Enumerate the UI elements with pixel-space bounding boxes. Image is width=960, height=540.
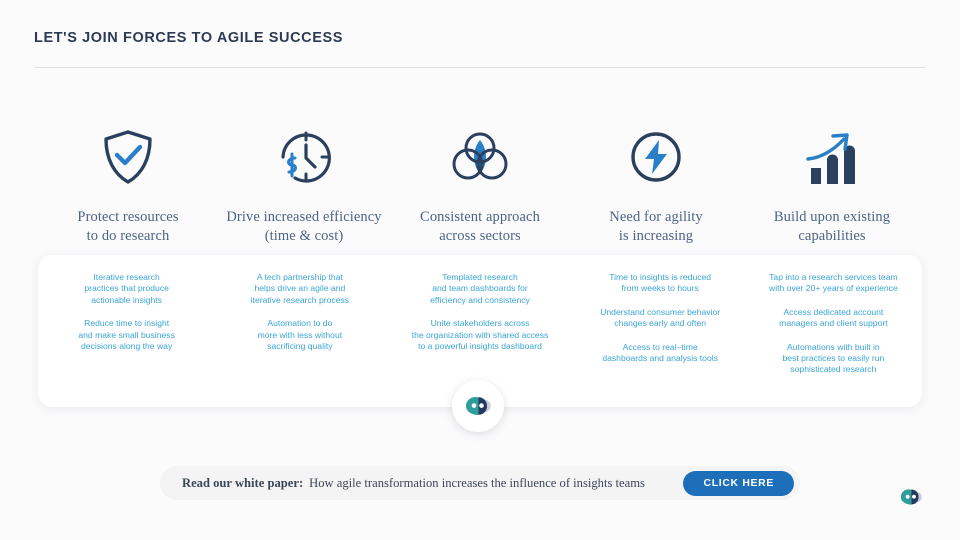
feature-column-3: Consistent approach across sectors — [392, 118, 568, 245]
benefit-item: Time to insights is reducedfrom weeks to… — [609, 272, 711, 295]
benefit-item: Automation to domore with less withoutsa… — [258, 318, 343, 352]
benefit-columns: Iterative researchpractices that produce… — [40, 272, 920, 388]
cta-bar: Read our white paper: How agile transfor… — [160, 466, 800, 500]
feature-column-2: Drive increased efficiency (time & cost) — [216, 118, 392, 245]
feature-heading: Build upon existing capabilities — [774, 208, 890, 245]
feature-heading-line1: Drive increased efficiency — [226, 209, 381, 225]
feature-heading: Consistent approach across sectors — [420, 208, 540, 245]
header-divider — [34, 67, 926, 68]
benefit-item: Unite stakeholders acrossthe organizatio… — [412, 318, 549, 352]
benefit-column-3: Templated researchand team dashboards fo… — [387, 272, 574, 388]
page-header: LET'S JOIN FORCES TO AGILE SUCCESS — [34, 30, 926, 68]
feature-heading: Drive increased efficiency (time & cost) — [226, 208, 381, 245]
benefit-item: Tap into a research services teamwith ov… — [769, 272, 898, 295]
benefit-item: A tech partnership thathelps drive an ag… — [251, 272, 349, 306]
company-logo-icon — [898, 486, 924, 508]
feature-heading-line2: capabilities — [798, 228, 865, 244]
feature-column-1: Protect resources to do research — [40, 118, 216, 245]
benefit-column-2: A tech partnership thathelps drive an ag… — [213, 272, 386, 388]
feature-heading-line2: across sectors — [439, 228, 521, 244]
feature-heading-line1: Consistent approach — [420, 209, 540, 225]
feature-column-4: Need for agility is increasing — [568, 118, 744, 245]
cta-text: How agile transformation increases the i… — [309, 476, 645, 491]
benefit-item: Reduce time to insightand make small bus… — [78, 318, 175, 352]
cta-strong-label: Read our white paper: — [182, 476, 303, 491]
feature-heading-line2: (time & cost) — [265, 228, 344, 244]
benefit-column-5: Tap into a research services teamwith ov… — [747, 272, 920, 388]
benefit-item: Iterative researchpractices that produce… — [84, 272, 169, 306]
feature-heading-line1: Build upon existing — [774, 209, 890, 225]
feature-heading-line2: to do research — [87, 228, 170, 244]
benefit-item: Automations with built inbest practices … — [783, 342, 885, 376]
feature-heading-line2: is increasing — [619, 228, 693, 244]
center-logo-badge — [452, 380, 504, 432]
company-logo-icon — [463, 393, 493, 419]
page-title: LET'S JOIN FORCES TO AGILE SUCCESS — [34, 30, 926, 46]
corner-logo — [898, 486, 924, 508]
venn-circles-icon — [448, 118, 512, 196]
clock-dollar-icon — [273, 118, 335, 196]
feature-heading-line1: Need for agility — [609, 209, 702, 225]
feature-heading: Need for agility is increasing — [609, 208, 702, 245]
feature-heading-line1: Protect resources — [77, 209, 178, 225]
feature-column-5: Build upon existing capabilities — [744, 118, 920, 245]
benefit-column-1: Iterative researchpractices that produce… — [40, 272, 213, 388]
benefit-item: Understand consumer behaviorchanges earl… — [600, 307, 720, 330]
benefit-item: Access to real–timedashboards and analys… — [602, 342, 718, 365]
click-here-button[interactable]: CLICK HERE — [683, 471, 794, 496]
benefit-item: Templated researchand team dashboards fo… — [430, 272, 530, 306]
bar-chart-growth-icon — [799, 118, 865, 196]
lightning-circle-icon — [625, 118, 687, 196]
benefit-column-4: Time to insights is reducedfrom weeks to… — [574, 272, 747, 388]
benefit-item: Access dedicated accountmanagers and cli… — [779, 307, 887, 330]
shield-check-icon — [97, 118, 159, 196]
feature-columns: Protect resources to do research Drive i… — [40, 118, 920, 245]
feature-heading: Protect resources to do research — [77, 208, 178, 245]
